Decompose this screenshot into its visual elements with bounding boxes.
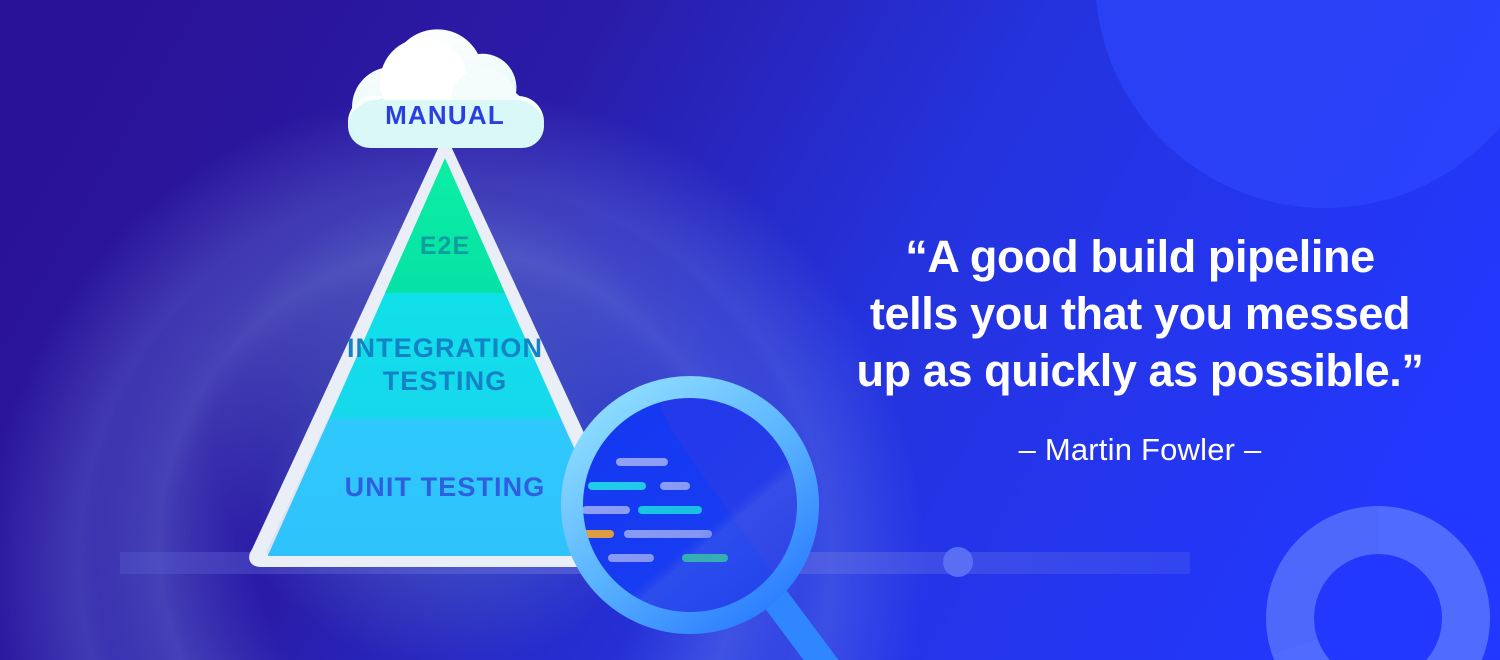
quote-line-3: up as quickly as possible.” bbox=[830, 342, 1450, 399]
pyramid-label-integration-line1: INTEGRATION bbox=[295, 332, 595, 365]
quote-line-1: “A good build pipeline bbox=[830, 228, 1450, 285]
pyramid-label-integration: INTEGRATION TESTING bbox=[295, 332, 595, 398]
testing-pyramid-banner: MANUAL E2E INTEGRATION TESTING UNIT TEST… bbox=[0, 0, 1500, 660]
cloud-label-manual: MANUAL bbox=[345, 100, 545, 131]
quote-line-2: tells you that you messed bbox=[830, 285, 1450, 342]
magnifier[interactable] bbox=[560, 380, 830, 660]
quote-block: “A good build pipeline tells you that yo… bbox=[830, 228, 1450, 468]
pyramid-label-unit: UNIT TESTING bbox=[295, 472, 595, 503]
quote-attribution: – Martin Fowler – bbox=[830, 432, 1450, 468]
pyramid-label-e2e: E2E bbox=[345, 232, 545, 261]
pyramid-label-integration-line2: TESTING bbox=[295, 365, 595, 398]
